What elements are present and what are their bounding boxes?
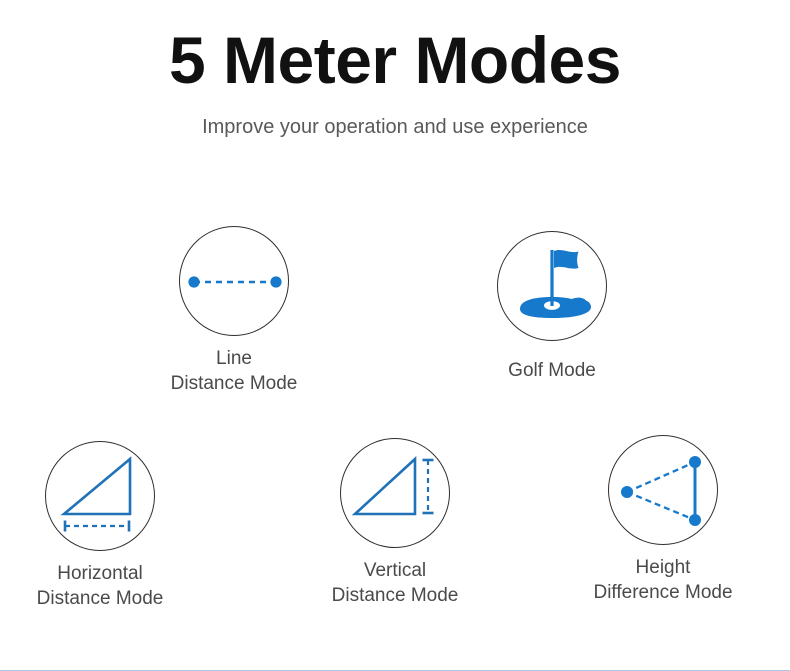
mode-label-block-line-distance: Line Distance Mode (119, 336, 349, 396)
mode-item-golf[interactable]: Golf Mode (437, 231, 667, 383)
page-title: 5 Meter Modes (0, 0, 790, 98)
three-dots-triangle-icon (609, 436, 719, 546)
mode-label-block-height-difference: Height Difference Mode (548, 545, 778, 605)
mode-item-horizontal-distance[interactable]: Horizontal Distance Mode (0, 441, 215, 611)
mode-label-block-golf: Golf Mode (437, 341, 667, 383)
mode-label-line-1: Line (119, 346, 349, 371)
mode-overview-page: 5 Meter Modes Improve your operation and… (0, 0, 790, 671)
mode-label-line-2: Distance Mode (119, 371, 349, 396)
mode-label-block-vertical-distance: Vertical Distance Mode (280, 548, 510, 608)
triangle-horizontal-dimension-icon (46, 442, 156, 552)
mode-item-line-distance[interactable]: Line Distance Mode (119, 226, 349, 396)
mode-label-vertical-2: Distance Mode (280, 583, 510, 608)
mode-icon-circle-vertical-distance (340, 438, 450, 548)
page-subtitle: Improve your operation and use experienc… (0, 98, 790, 140)
golf-flag-green-icon (498, 232, 608, 342)
mode-label-horizontal-1: Horizontal (0, 561, 215, 586)
mode-label-block-horizontal-distance: Horizontal Distance Mode (0, 551, 215, 611)
mode-icon-circle-line-distance (179, 226, 289, 336)
header: 5 Meter Modes Improve your operation and… (0, 0, 790, 140)
mode-label-height-2: Difference Mode (548, 580, 778, 605)
triangle-vertical-dimension-icon (341, 439, 451, 549)
mode-icon-circle-height-difference (608, 435, 718, 545)
mode-icon-circle-golf (497, 231, 607, 341)
mode-label-vertical-1: Vertical (280, 558, 510, 583)
two-dots-dashed-line-icon (180, 227, 290, 337)
mode-label-height-1: Height (548, 555, 778, 580)
mode-icon-circle-horizontal-distance (45, 441, 155, 551)
mode-label-golf-1: Golf Mode (437, 358, 667, 383)
mode-item-vertical-distance[interactable]: Vertical Distance Mode (280, 438, 510, 608)
mode-label-horizontal-2: Distance Mode (0, 586, 215, 611)
mode-item-height-difference[interactable]: Height Difference Mode (548, 435, 778, 605)
